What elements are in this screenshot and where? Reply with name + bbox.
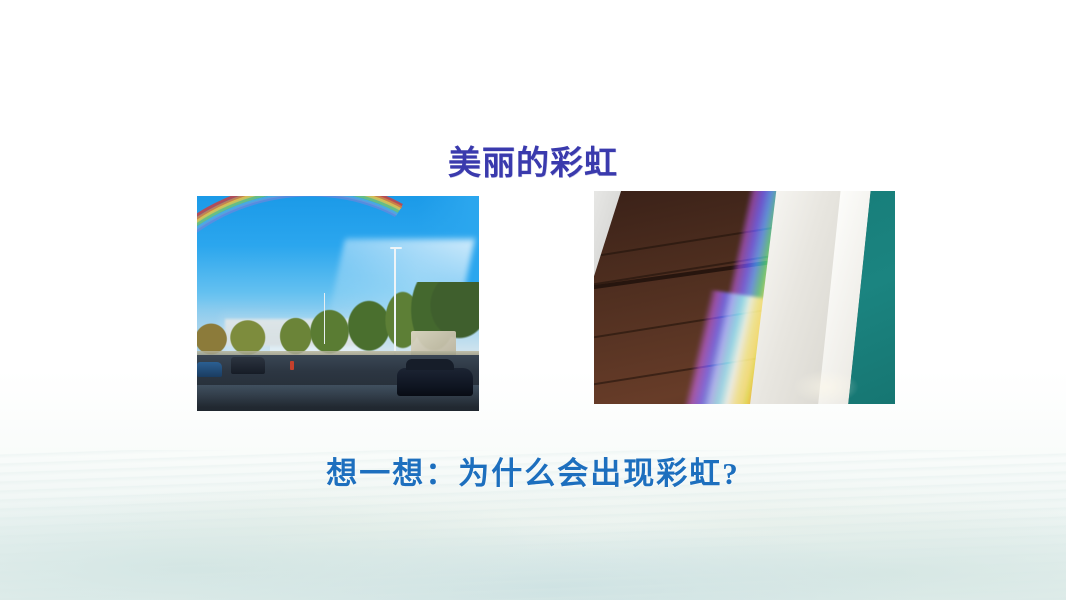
utility-pole (324, 293, 326, 345)
floor-light-highlight (793, 370, 859, 404)
traffic-cone (290, 361, 294, 370)
page-title: 美丽的彩虹 (0, 136, 1066, 184)
street-lamp-pole (394, 248, 396, 360)
question-text: 想一想：为什么会出现彩虹? (0, 448, 1066, 493)
indoor-spectrum-photo (594, 191, 895, 404)
car-suv (397, 368, 473, 396)
outdoor-rainbow-photo (197, 196, 479, 411)
car-sedan (231, 357, 265, 374)
slide-canvas: 美丽的彩虹 (0, 0, 1066, 600)
car-blue (197, 362, 222, 377)
